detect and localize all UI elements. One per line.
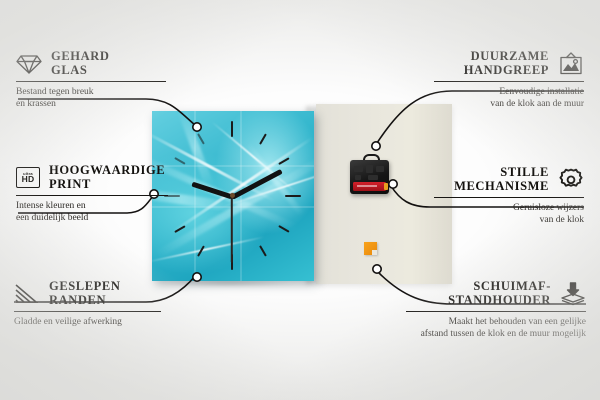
pane-line [152,206,314,208]
feature-durable-hanger: DUURZAME HANDGREEP Eenvoudige installati… [434,50,584,110]
mechanism-battery [353,182,386,191]
feature-title-line: GEHARD [51,50,109,64]
feature-title: GESLEPEN RANDEN [49,280,121,307]
feature-header: GESLEPEN RANDEN [14,280,161,307]
feature-title-line: STILLE [454,166,549,180]
feature-header: DUURZAME HANDGREEP [434,50,584,77]
feature-title-line: PRINT [49,178,165,192]
feature-header: STILLE MECHANISME [434,166,584,193]
feature-desc-line: Intense kleuren en [16,200,168,212]
ultra-hd-icon: ultra HD [16,167,40,188]
feature-title-line: HOOGWAARDIGE [49,164,165,178]
feature-title: HOOGWAARDIGE PRINT [49,164,165,191]
feature-rule [14,311,161,312]
feature-description: Gladde en veilige afwerking [14,316,161,328]
clock-tick-3 [285,195,301,197]
pane-line [240,111,242,281]
battery-stripe [357,185,377,187]
feature-desc-line: van de klok aan de muur [434,98,584,110]
feature-title-line: GLAS [51,64,109,78]
feature-polished-edges: GESLEPEN RANDEN Gladde en veilige afwerk… [14,280,161,328]
feature-rule [16,195,168,196]
feature-title-line: MECHANISME [454,180,549,194]
feature-title: DUURZAME HANDGREEP [464,50,549,77]
feature-desc-line: Gladde en veilige afwerking [14,316,161,328]
feature-header: GEHARD GLAS [16,50,166,77]
feature-rule [16,81,166,82]
feature-rule [406,311,586,312]
feature-desc-line: Geruisloze wijzers [434,202,584,214]
press-down-pad-icon [560,282,586,306]
feature-title: GEHARD GLAS [51,50,109,77]
feature-title-line: GESLEPEN [49,280,121,294]
feature-desc-line: Eenvoudige installatie [434,86,584,98]
feature-rule [434,197,584,198]
mechanism-detail [376,166,384,172]
feature-high-quality-print: ultra HD HOOGWAARDIGE PRINT Intense kleu… [16,164,168,224]
pane-line [194,111,196,281]
feature-header: ultra HD HOOGWAARDIGE PRINT [16,164,168,191]
product-infographic: GEHARD GLAS Bestand tegen breuk en krass… [0,0,600,400]
feature-title-line: RANDEN [49,294,121,308]
picture-frame-hanging-icon [558,52,584,75]
foam-spacer-pad [364,242,377,255]
feature-title-line: DUURZAME [464,50,549,64]
feature-desc-line: afstand tussen de klok en de muur mogeli… [406,328,586,340]
feature-tempered-glass: GEHARD GLAS Bestand tegen breuk en krass… [16,50,166,110]
mechanism-detail [355,175,361,180]
feature-desc-line: van de klok [434,214,584,226]
feature-desc-line: een duidelijk beeld [16,212,168,224]
feature-title: STILLE MECHANISME [454,166,549,193]
mechanism-detail [354,166,363,172]
feature-description: Maakt het behouden van een gelijke afsta… [406,316,586,340]
pane-line [152,165,314,167]
product-scene [120,96,450,296]
feature-rule [434,81,584,82]
feature-header: SCHUIMAF- STANDHOUDER [406,280,586,307]
clock-mechanism [350,160,389,194]
feature-title-line: HANDGREEP [464,64,549,78]
feature-title-line: SCHUIMAF- [448,280,551,294]
feature-description: Geruisloze wijzers van de klok [434,202,584,226]
feature-description: Eenvoudige installatie van de klok aan d… [434,86,584,110]
feature-desc-line: Bestand tegen breuk [16,86,166,98]
feature-description: Intense kleuren en een duidelijk beeld [16,200,168,224]
feature-foam-spacer: SCHUIMAF- STANDHOUDER Maakt het behouden… [406,280,586,340]
feature-desc-line: en krassen [16,98,166,110]
battery-cap [384,183,388,190]
mechanism-detail [368,175,378,180]
clock-center-pin [230,193,235,198]
clock-tick-12 [231,121,233,137]
ultra-hd-icon-main: HD [22,175,35,184]
wall-clock [152,111,314,281]
bevelled-edge-icon [14,283,40,305]
diamond-icon [16,53,42,75]
feature-title-line: STANDHOUDER [448,294,551,308]
gear-icon [558,168,584,192]
feature-title: SCHUIMAF- STANDHOUDER [448,280,551,307]
feature-desc-line: Maakt het behouden van een gelijke [406,316,586,328]
foam-corner [372,250,377,255]
wall-panel [316,104,452,284]
mechanism-detail [366,165,373,173]
feature-silent-mechanism: STILLE MECHANISME Geruisloze wijzers van… [434,166,584,226]
feature-description: Bestand tegen breuk en krassen [16,86,166,110]
clock-second-hand [231,197,233,263]
